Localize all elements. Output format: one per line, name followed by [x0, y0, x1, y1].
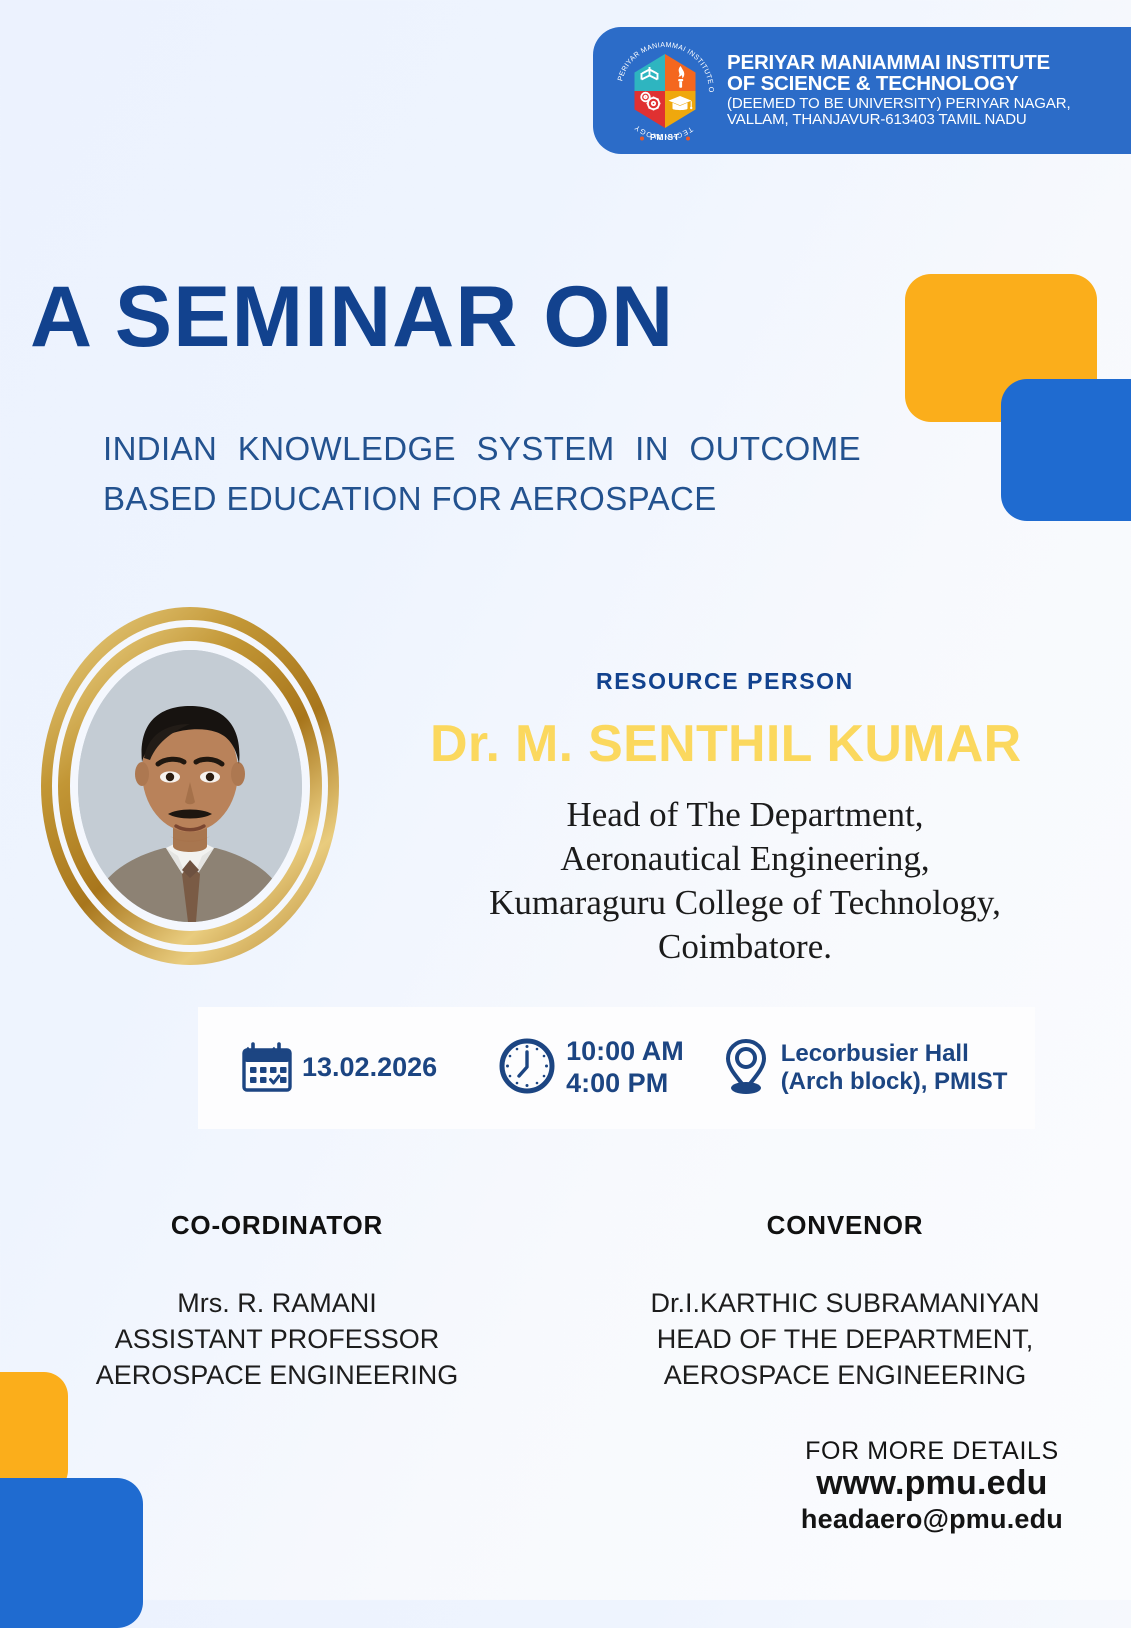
affiliation-line2: Aeronautical Engineering, [390, 837, 1100, 881]
convenor-role: CONVENOR [600, 1210, 1090, 1241]
event-time-line1: 10:00 AM [566, 1036, 684, 1068]
coordinator-designation: ASSISTANT PROFESSOR [52, 1322, 502, 1358]
event-time-line2: 4:00 PM [566, 1068, 684, 1100]
resource-person-portrait [41, 601, 341, 971]
event-time: 10:00 AM 4:00 PM [497, 1036, 684, 1101]
coordinator-department: AEROSPACE ENGINEERING [52, 1358, 502, 1394]
event-venue-value: Lecorbusier Hall (Arch block), PMIST [781, 1040, 1008, 1097]
location-pin-icon [720, 1035, 772, 1102]
convenor-department: AEROSPACE ENGINEERING [600, 1358, 1090, 1394]
institute-name-line1: PERIYAR MANIAMMAI INSTITUTE [727, 53, 1071, 74]
organiser-coordinator: CO-ORDINATOR Mrs. R. RAMANI ASSISTANT PR… [52, 1210, 502, 1394]
institute-address-line1: (DEEMED TO BE UNIVERSITY) PERIYAR NAGAR, [727, 96, 1071, 111]
decorative-blue-square-top-right [1001, 379, 1131, 521]
convenor-name: Dr.I.KARTHIC SUBRAMANIYAN [600, 1286, 1090, 1322]
contact-footer: FOR MORE DETAILS www.pmu.edu headaero@pm… [801, 1437, 1063, 1535]
event-time-value: 10:00 AM 4:00 PM [566, 1036, 684, 1100]
svg-text:PMIST: PMIST [650, 132, 680, 142]
event-details-bar: 13.02.2026 10:00 AM [198, 1007, 1035, 1129]
institute-address-line2: VALLAM, THANJAVUR-613403 TAMIL NADU [727, 112, 1071, 127]
decorative-blue-square-bottom-left [0, 1478, 143, 1628]
event-date-value: 13.02.2026 [302, 1052, 437, 1084]
convenor-details: Dr.I.KARTHIC SUBRAMANIYAN HEAD OF THE DE… [600, 1286, 1090, 1394]
portrait-photo [78, 650, 302, 922]
affiliation-line1: Head of The Department, [390, 793, 1100, 837]
pmist-emblem-logo: PERIYAR MANIAMMAI INSTITUTE OF SCIENCE &… [609, 35, 721, 147]
affiliation-line3: Kumaraguru College of Technology, [390, 881, 1100, 925]
coordinator-role: CO-ORDINATOR [52, 1210, 502, 1241]
institute-header-banner: PERIYAR MANIAMMAI INSTITUTE OF SCIENCE &… [593, 27, 1131, 154]
poster-subtitle: INDIAN KNOWLEDGE SYSTEM IN OUTCOME BASED… [103, 424, 1003, 524]
resource-person-name: Dr. M. SENTHIL KUMAR [430, 714, 1022, 774]
coordinator-details: Mrs. R. RAMANI ASSISTANT PROFESSOR AEROS… [52, 1286, 502, 1394]
resource-person-affiliation: Head of The Department, Aeronautical Eng… [390, 793, 1100, 969]
poster-title: A SEMINAR ON [30, 268, 674, 367]
resource-person-label: RESOURCE PERSON [596, 668, 854, 695]
seminar-poster: PERIYAR MANIAMMAI INSTITUTE OF SCIENCE &… [0, 0, 1131, 1600]
footer-label: FOR MORE DETAILS [801, 1437, 1063, 1466]
coordinator-name: Mrs. R. RAMANI [52, 1286, 502, 1322]
convenor-designation: HEAD OF THE DEPARTMENT, [600, 1322, 1090, 1358]
event-venue: Lecorbusier Hall (Arch block), PMIST [720, 1035, 1008, 1102]
poster-subtitle-line1: INDIAN KNOWLEDGE SYSTEM IN OUTCOME [103, 424, 1003, 474]
calendar-icon [241, 1038, 293, 1099]
poster-subtitle-line2: BASED EDUCATION FOR AEROSPACE [103, 474, 1003, 524]
event-venue-line1: Lecorbusier Hall [781, 1040, 1008, 1068]
event-venue-line2: (Arch block), PMIST [781, 1068, 1008, 1096]
clock-icon [497, 1036, 557, 1101]
footer-website[interactable]: www.pmu.edu [801, 1464, 1063, 1503]
organiser-convenor: CONVENOR Dr.I.KARTHIC SUBRAMANIYAN HEAD … [600, 1210, 1090, 1394]
institute-name-line2: OF SCIENCE & TECHNOLOGY [727, 74, 1071, 95]
affiliation-line4: Coimbatore. [390, 925, 1100, 969]
footer-email[interactable]: headaero@pmu.edu [801, 1504, 1063, 1535]
event-date: 13.02.2026 [241, 1038, 437, 1099]
